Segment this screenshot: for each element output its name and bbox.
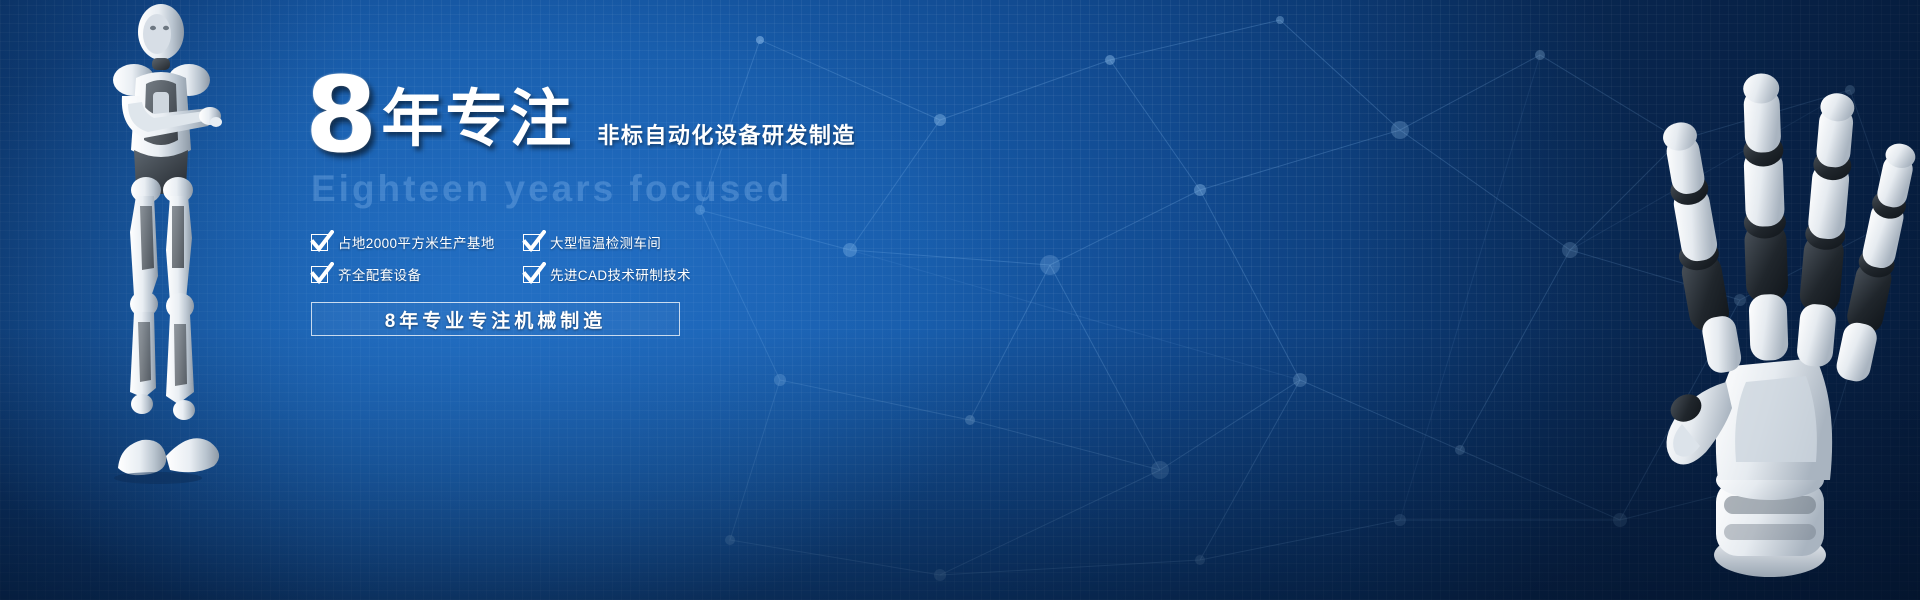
- headline-row: 8 年专注 非标自动化设备研发制造: [305, 72, 1085, 164]
- check-icon: [311, 266, 328, 283]
- banner-content: 8 年专注 非标自动化设备研发制造 Eighteen years focused…: [305, 72, 1085, 336]
- feature-item: 大型恒温检测车间: [523, 232, 783, 252]
- feature-label: 先进CAD技术研制技术: [550, 264, 691, 284]
- headline-english: Eighteen years focused: [311, 168, 1085, 210]
- feature-label: 齐全配套设备: [338, 264, 421, 284]
- slogan-text: 8年专业专注机械制造: [385, 306, 607, 333]
- headline-subtitle: 非标自动化设备研发制造: [597, 118, 856, 150]
- slogan-box: 8年专业专注机械制造: [311, 302, 680, 336]
- robotic-hand-figure: [1590, 10, 1920, 600]
- headline-number: 8: [305, 68, 375, 164]
- feature-item: 齐全配套设备: [311, 264, 523, 284]
- feature-label: 大型恒温检测车间: [550, 232, 661, 252]
- feature-list: 占地2000平方米生产基地 大型恒温检测车间 齐全配套设备 先进CAD技术研制技…: [311, 232, 1085, 284]
- feature-label: 占地2000平方米生产基地: [338, 232, 495, 252]
- check-icon: [523, 266, 540, 283]
- check-icon: [523, 234, 540, 251]
- check-icon: [311, 234, 328, 251]
- headline-cn: 年专注: [381, 68, 573, 158]
- banner-root: 8 年专注 非标自动化设备研发制造 Eighteen years focused…: [0, 0, 1920, 600]
- feature-item: 先进CAD技术研制技术: [523, 264, 783, 284]
- humanoid-robot-figure: [58, 0, 288, 490]
- feature-item: 占地2000平方米生产基地: [311, 232, 523, 252]
